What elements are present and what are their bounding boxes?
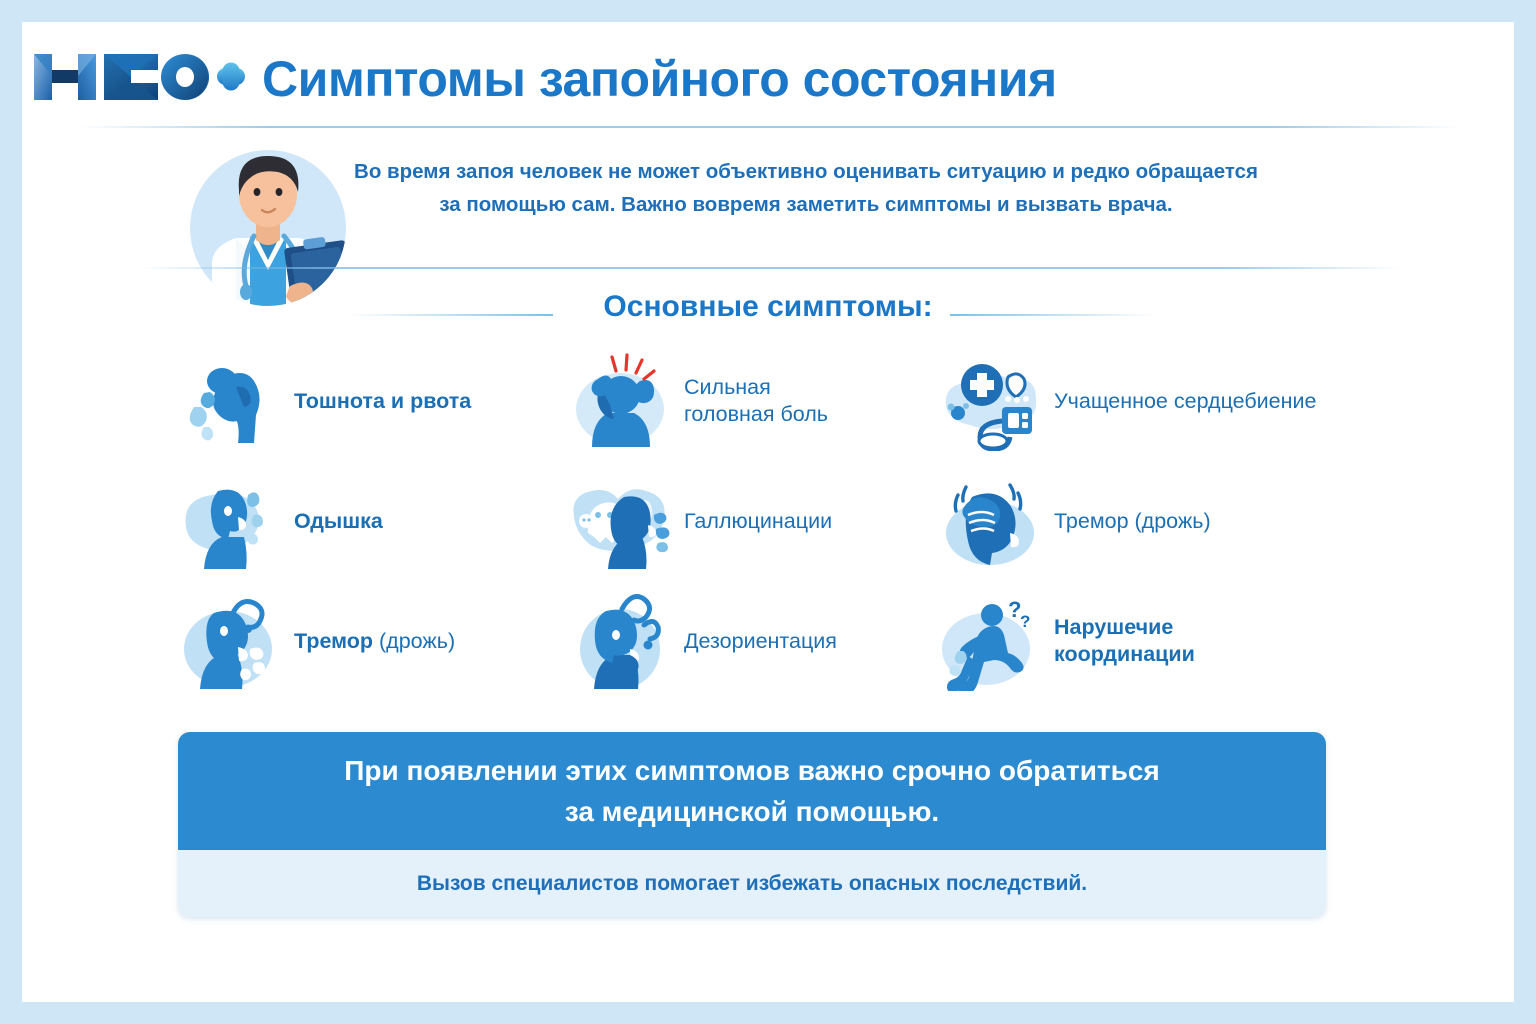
headache-person-icon [568,351,672,451]
symptom-item-tachycardia: Учащенное сердцебиение [938,345,1358,457]
vomiting-person-icon [178,351,282,451]
symptom-row: Одышка [178,465,1358,577]
symptom-item-headache: Сильная головная боль [568,345,938,457]
symptom-label: Учащенное сердцебиение [1054,388,1316,415]
neo-plus-logo [30,46,245,108]
symptom-label: Дезориентация [684,628,837,655]
banner-footnote-bold: опасных последствий. [849,872,1087,895]
section-title: Основные симптомы: [0,290,1536,324]
symptom-row: Тремор (дрожь) [178,585,1358,697]
header-divider [80,126,1460,128]
intro-paragraph: Во время запоя человек не может объектив… [316,155,1296,221]
banner-footnote-plain: Вызов специалистов помогает избежать [417,872,849,895]
symptom-item-tremor: Тремор (дрожь) [178,585,568,697]
symptom-label: Сильная головная боль [684,374,828,428]
breathless-person-icon [178,471,282,571]
shaking-person-icon [178,591,282,691]
heart-monitor-icon [938,351,1042,451]
symptom-item-disorientation: Дезориентация [568,585,938,697]
banner-headline-line-2: за медицинской помощью. [344,791,1160,832]
mid-divider [140,267,1400,269]
section-divider-right [950,314,1155,316]
symptom-label: Одышка [294,508,383,535]
symptom-label: Тремор (дрожь) [1054,508,1211,535]
symptom-label: Тошнота и рвота [294,388,471,415]
symptom-label: Тремор (дрожь) [294,628,455,655]
section-header: Основные симптомы: [0,290,1536,336]
symptom-item-nausea: Тошнота и рвота [178,345,568,457]
stumbling-person-icon: ? ? [938,591,1042,691]
confused-thinking-icon [568,591,672,691]
symptom-label: Галлюцинации [684,508,832,535]
symptom-item-hallucinations: Галлюцинации [568,465,938,577]
head-holding-tremor-icon [938,471,1042,571]
infographic-page: Симптомы запойного состояния [0,0,1536,1024]
ghost-hallucination-icon [568,471,672,571]
symptom-label: Нарушечие координации [1054,614,1195,668]
banner-footnote: Вызов специалистов помогает избежать опа… [178,850,1326,917]
symptom-row: Тошнота и рвота [178,345,1358,457]
page-title: Симптомы запойного состояния [262,50,1057,108]
symptom-item-tremor-head: Тремор (дрожь) [938,465,1358,577]
banner-headline: При появлении этих симптомов важно срочн… [178,732,1326,850]
call-to-action-banner: При появлении этих симптомов важно срочн… [178,732,1326,917]
intro-line-2: за помощью сам. Важно вовремя заметить с… [316,188,1296,221]
header: Симптомы запойного состояния [0,22,1536,128]
banner-headline-line-1: При появлении этих симптомов важно срочн… [344,750,1160,791]
symptom-grid: Тошнота и рвота [178,345,1358,705]
svg-text:?: ? [1020,612,1030,631]
intro-line-1: Во время запоя человек не может объектив… [316,155,1296,188]
symptom-item-shortness-of-breath: Одышка [178,465,568,577]
symptom-item-coordination: ? ? Нарушечие координации [938,585,1358,697]
